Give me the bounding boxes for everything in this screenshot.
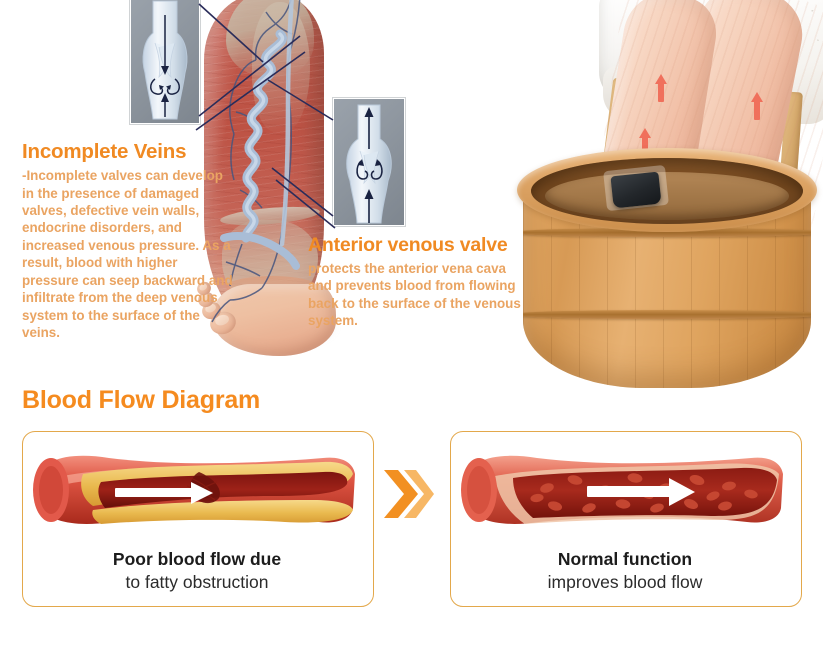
incomplete-veins-heading: Incomplete Veins (22, 140, 234, 164)
incomplete-veins-block: Incomplete Veins -Incomplete valves can … (22, 140, 234, 341)
double-chevron-right-icon (382, 466, 434, 522)
leader-inset1-a (199, 4, 263, 62)
leader-inset2-c (276, 180, 335, 228)
vessel-normal-flow (451, 436, 801, 540)
vessel-end-inner (467, 466, 491, 514)
circulation-arrow-1 (655, 74, 667, 102)
foot-spa-device (610, 172, 661, 209)
basin-hoop-lower (523, 310, 811, 319)
caption-normal-flow-bold: Normal function (450, 549, 800, 570)
caption-poor-flow-bold: Poor blood flow due (22, 549, 372, 570)
leader-inset2-b (272, 168, 333, 216)
caption-normal-flow-regular: improves blood flow (450, 572, 800, 593)
circulation-arrow-2 (751, 92, 763, 120)
caption-poor-flow-regular: to fatty obstruction (22, 572, 372, 593)
blood-flow-diagram-title: Blood Flow Diagram (22, 386, 260, 415)
infographic-root: Incomplete Veins -Incomplete valves can … (0, 0, 823, 665)
vessel-end-inner (39, 466, 63, 514)
vessel-poor-flow (23, 436, 373, 540)
leader-inset1-b (199, 36, 300, 116)
incomplete-veins-body: -Incomplete valves can develop in the pr… (22, 167, 234, 341)
foot-soak-basin-photo (487, 0, 823, 396)
leader-inset2-a (268, 80, 333, 120)
top-section: Incomplete Veins -Incomplete valves can … (0, 0, 823, 400)
leader-inset1-c (196, 52, 305, 130)
